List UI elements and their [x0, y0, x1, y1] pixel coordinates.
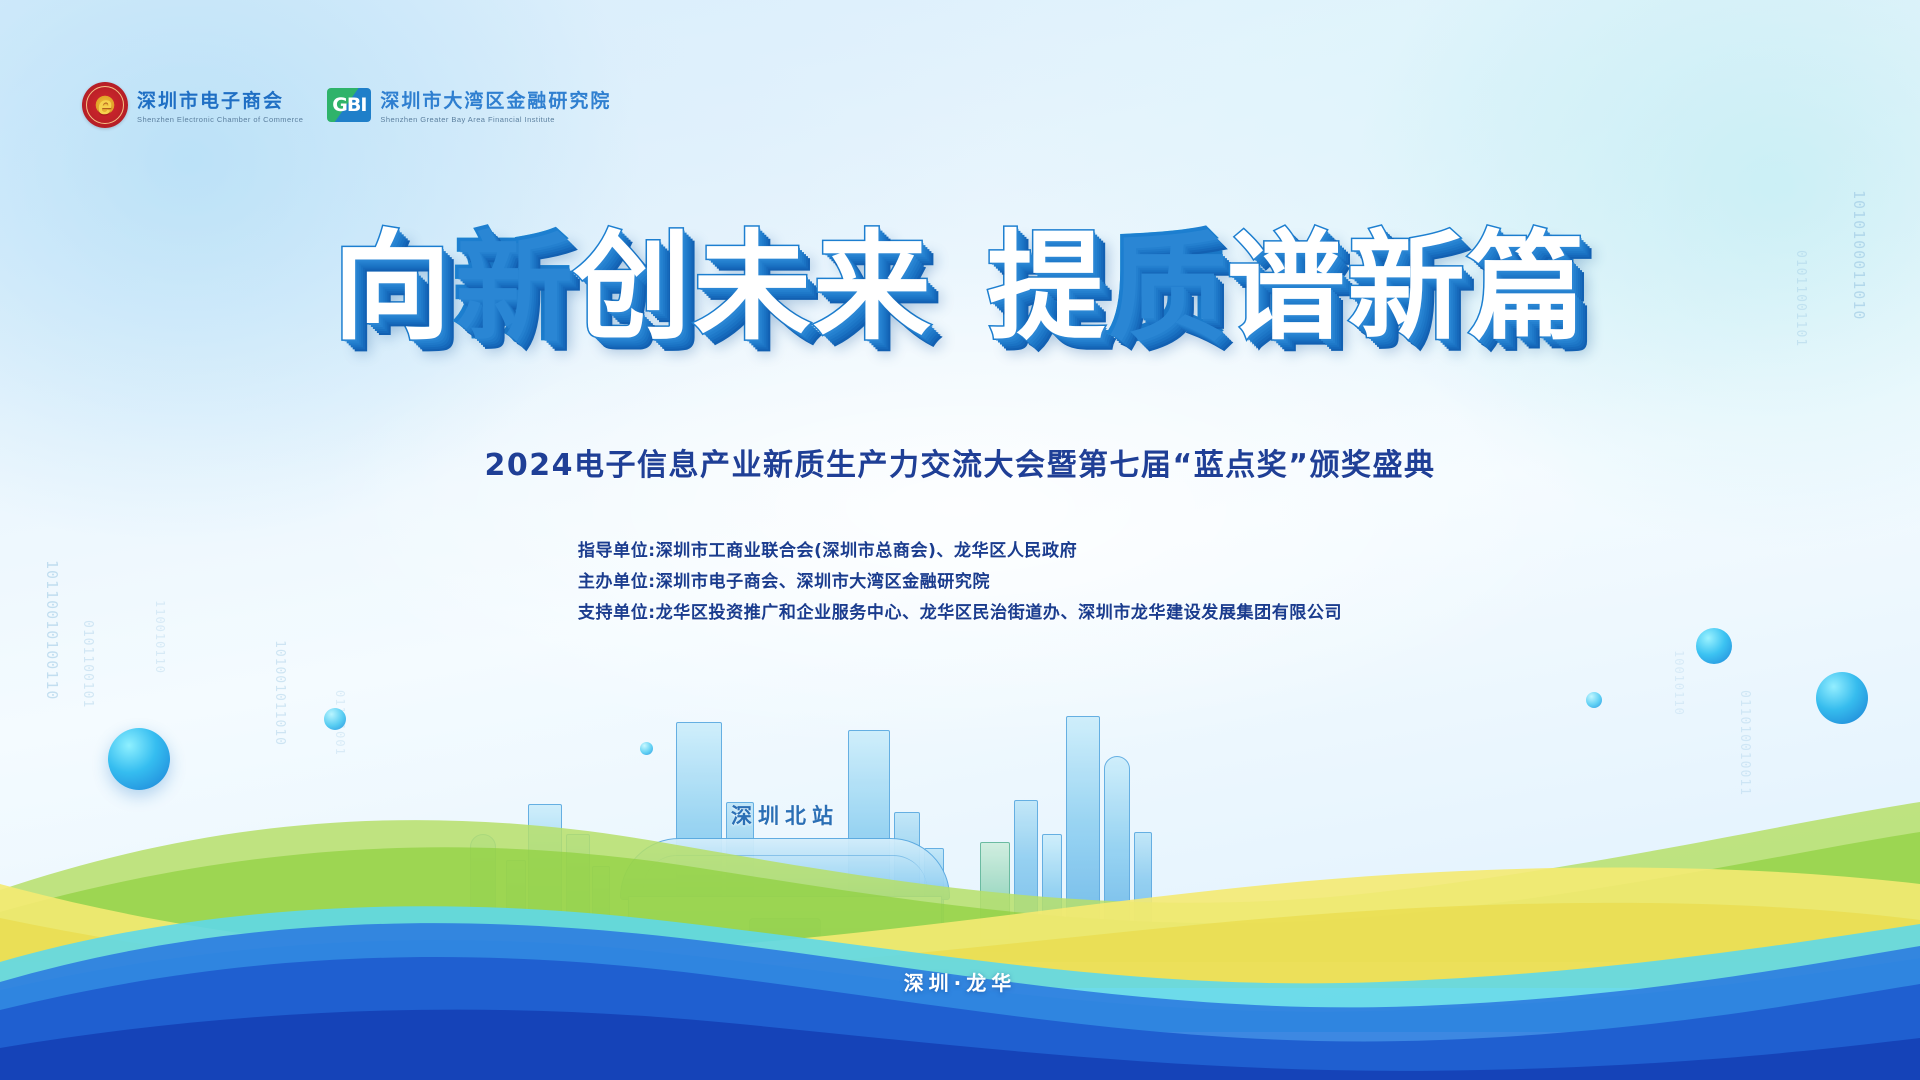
- logo-bar: 深圳市电子商会 Shenzhen Electronic Chamber of C…: [82, 82, 611, 128]
- decorative-sphere: [1696, 628, 1732, 664]
- organizer-line-host: 主办单位:深圳市电子商会、深圳市大湾区金融研究院: [578, 567, 1342, 592]
- banner-stage: 10110010100110 0101100101 110010110 1010…: [0, 0, 1920, 1080]
- headline-char: 向: [333, 228, 453, 346]
- logo-title-en: Shenzhen Electronic Chamber of Commerce: [137, 115, 303, 124]
- event-subtitle: 2024电子信息产业新质生产力交流大会暨第七届“蓝点奖”颁奖盛典: [0, 440, 1920, 484]
- headline-char: 创: [573, 228, 693, 346]
- headline: 向新创未来提质谱新篇: [0, 228, 1920, 346]
- decorative-sphere: [1586, 692, 1602, 708]
- organizer-line-guidance: 指导单位:深圳市工商业联合会(深圳市总商会)、龙华区人民政府: [578, 536, 1342, 561]
- seal-emblem-icon: [82, 82, 128, 128]
- headline-char: 谱: [1227, 228, 1347, 346]
- decorative-sphere: [640, 742, 653, 755]
- headline-char: 篇: [1467, 228, 1587, 346]
- headline-char: 未: [693, 228, 813, 346]
- headline-char-accent: 新: [453, 228, 573, 346]
- gbi-logo-icon: GBI: [327, 88, 371, 122]
- logo-title-cn: 深圳市大湾区金融研究院: [380, 86, 611, 113]
- city-label: 深圳·龙华: [0, 967, 1920, 996]
- logo-title-en: Shenzhen Greater Bay Area Financial Inst…: [380, 115, 611, 124]
- organizer-line-support: 支持单位:龙华区投资推广和企业服务中心、龙华区民治街道办、深圳市龙华建设发展集团…: [578, 598, 1342, 623]
- logo-shenzhen-electronic-chamber: 深圳市电子商会 Shenzhen Electronic Chamber of C…: [82, 82, 303, 128]
- organizer-list: 指导单位:深圳市工商业联合会(深圳市总商会)、龙华区人民政府 主办单位:深圳市电…: [578, 536, 1342, 623]
- headline-char: 来: [813, 228, 933, 346]
- headline-char-accent: 质: [1107, 228, 1227, 346]
- headline-char: 新: [1347, 228, 1467, 346]
- logo-gba-financial-institute: GBI 深圳市大湾区金融研究院 Shenzhen Greater Bay Are…: [327, 86, 611, 124]
- decorative-sphere: [1816, 672, 1868, 724]
- headline-char: 提: [987, 228, 1107, 346]
- decorative-sphere: [324, 708, 346, 730]
- logo-title-cn: 深圳市电子商会: [137, 86, 303, 113]
